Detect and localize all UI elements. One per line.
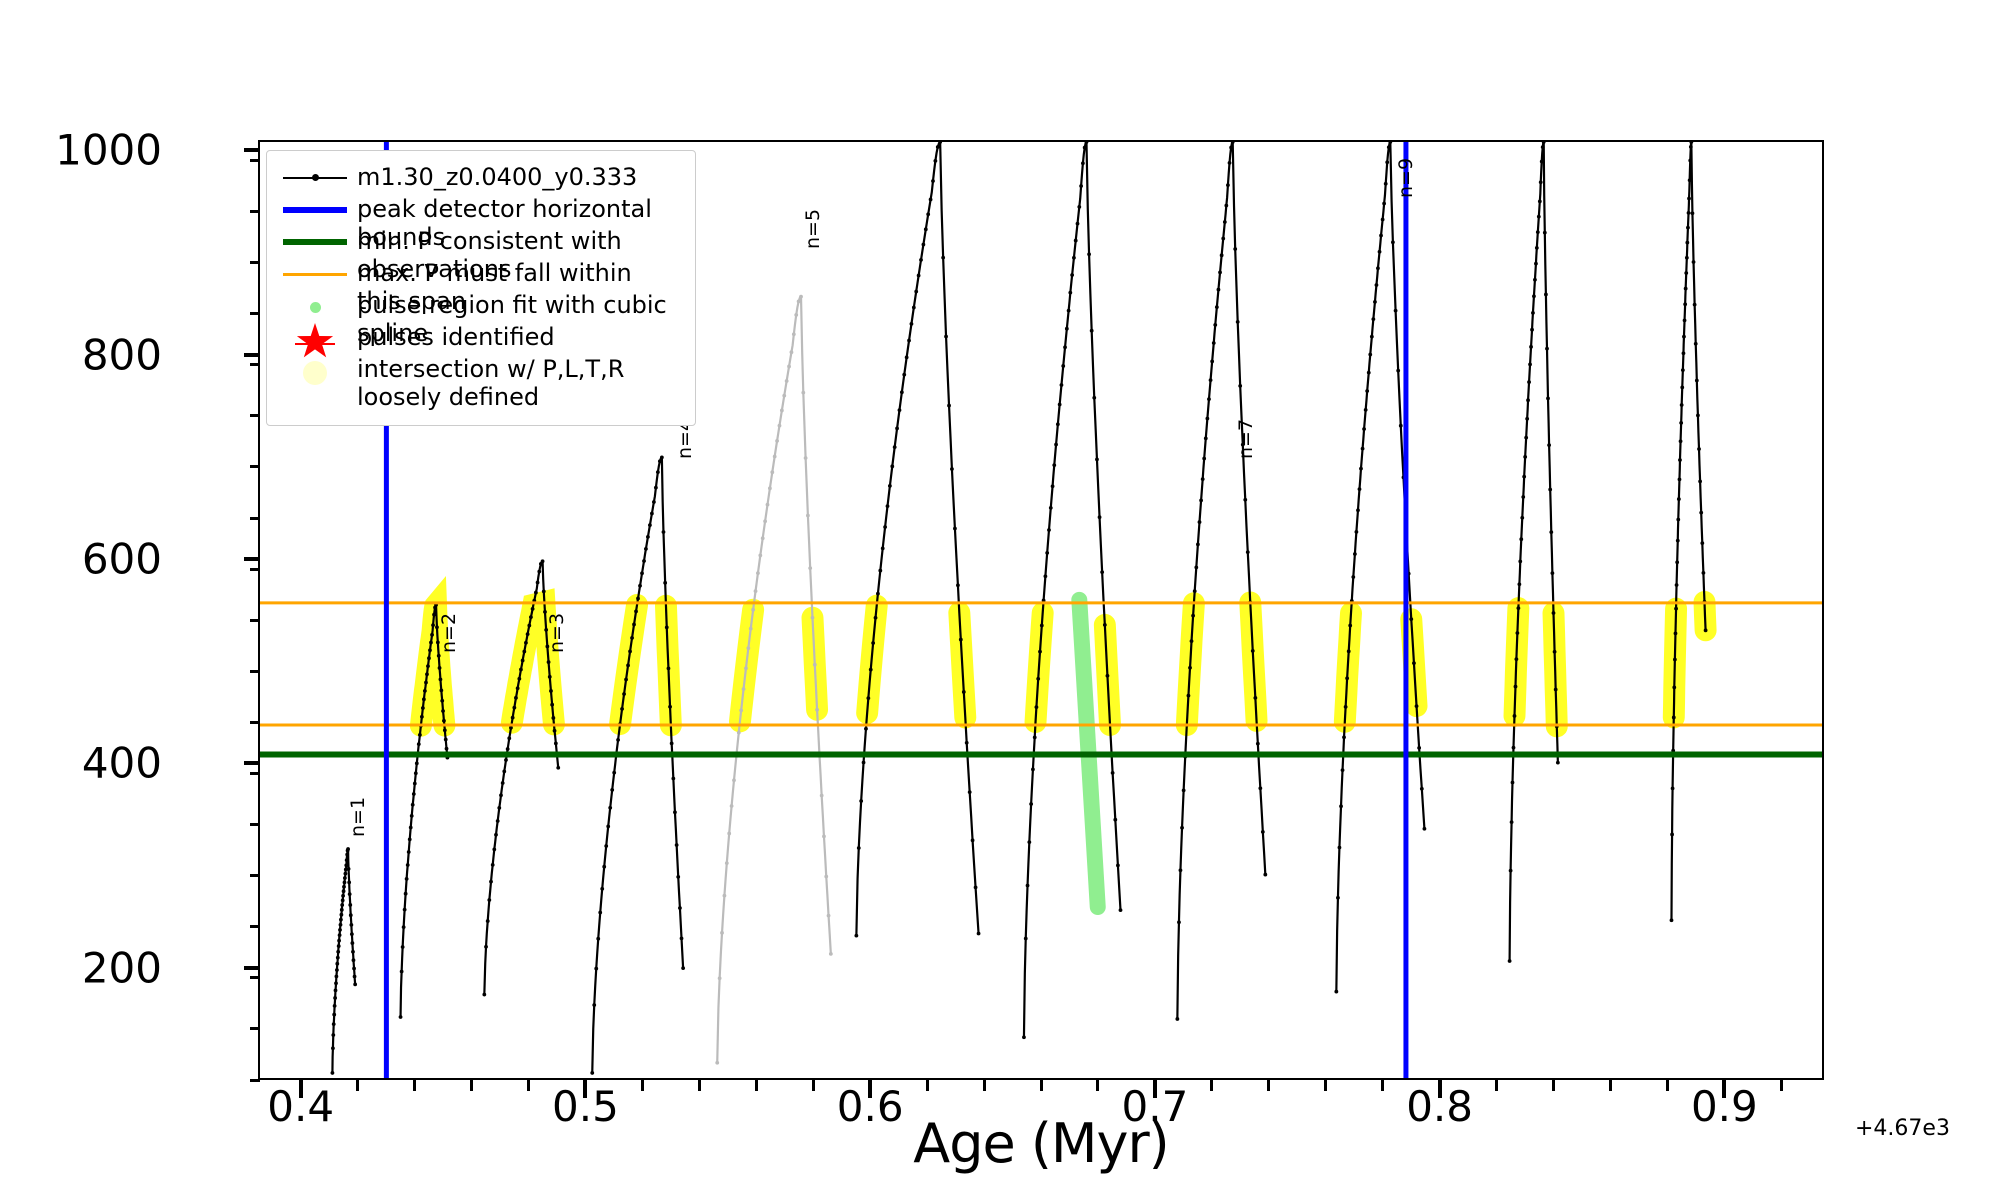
data-point [1523,455,1527,459]
data-point [1038,650,1042,654]
data-point [763,519,767,523]
data-point [1549,530,1553,534]
data-point [345,858,349,862]
data-point [730,804,734,808]
data-point [522,650,526,654]
data-point [1209,378,1213,382]
data-point [519,668,523,672]
data-point [1510,820,1514,824]
data-point [775,439,779,443]
data-point [1385,160,1389,164]
data-point [770,470,774,474]
data-point [1514,657,1518,661]
x-tick-label: 0.4 [267,1082,334,1131]
data-point [1552,611,1556,615]
data-point [1533,278,1537,282]
data-point [1068,291,1072,295]
data-point [1539,180,1543,184]
data-point [650,512,654,516]
data-point [422,697,426,701]
data-point [407,850,411,854]
data-point [1670,833,1674,837]
data-point [1190,639,1194,643]
data-point [1113,818,1117,822]
data-point [874,616,878,620]
data-point [898,408,902,412]
x-tick-minor [1381,1080,1384,1091]
data-point [1220,253,1224,257]
data-point [676,875,680,879]
data-point [624,678,628,682]
data-point [632,623,636,627]
x-tick-minor [1267,1080,1270,1091]
data-point [346,847,350,851]
data-point [968,790,972,794]
data-point [1198,520,1202,524]
data-point [1387,145,1391,149]
data-point [797,300,801,304]
data-point [336,956,340,960]
data-point [1694,342,1698,346]
data-point [1212,341,1216,345]
data-point [1554,688,1558,692]
data-point [663,581,667,585]
data-point [1683,318,1687,322]
data-point [1210,359,1214,363]
data-point [768,486,772,490]
data-point [1530,328,1534,332]
data-point [739,708,743,712]
data-point [780,409,784,413]
data-point [348,903,352,907]
data-point [883,525,887,529]
data-point [924,227,928,231]
data-point [756,571,760,575]
data-point [878,569,882,573]
data-point [1532,294,1536,298]
x-tick-label: 0.9 [1691,1082,1758,1131]
data-point [553,729,557,733]
data-point [340,903,344,907]
data-point [1538,199,1542,203]
data-point [592,1003,596,1007]
data-point [506,747,510,751]
data-point [761,536,765,540]
data-point [622,692,626,696]
data-point [340,908,344,912]
data-point [343,880,347,884]
data-point [349,923,353,927]
data-point [1026,884,1030,888]
data-point [827,914,831,918]
data-point [421,706,425,710]
data-point [829,952,833,956]
data-point [1687,197,1691,201]
legend-key-line-with-dots [279,163,353,193]
data-point [1072,256,1076,260]
data-point [723,894,727,898]
data-point [799,295,803,299]
data-point [550,703,554,707]
data-point [352,958,356,962]
data-point [1251,649,1255,653]
data-point [1067,309,1071,313]
data-point [596,937,600,941]
data-point [1695,379,1699,383]
data-point [1522,475,1526,479]
data-point [876,592,880,596]
cycle-label: n=3 [546,613,568,653]
data-point [612,771,616,775]
legend-key-small-dot [279,291,353,321]
data-point [1553,650,1557,654]
data-point [338,928,342,932]
data-point [634,610,638,614]
data-point [526,632,530,636]
data-point [439,678,443,682]
data-point [1036,677,1040,681]
data-point [893,445,897,449]
data-point [1223,220,1227,224]
data-point [333,996,337,1000]
data-point [1052,463,1056,467]
data-point [343,876,347,880]
data-point [1338,846,1342,850]
x-axis-offset-text: +4.67e3 [1855,1116,1950,1141]
data-point [439,688,443,692]
data-point [501,781,505,785]
data-point [494,833,498,837]
data-point [804,456,808,460]
data-point [1246,550,1250,554]
data-point [332,1013,336,1017]
data-point [438,666,442,670]
data-point [1194,565,1198,569]
data-point [429,641,433,645]
data-point [1356,508,1360,512]
data-point [406,863,410,867]
data-point [353,983,357,987]
data-point [1204,436,1208,440]
data-point [871,641,875,645]
data-point [1253,696,1257,700]
data-point [1187,694,1191,698]
data-point [933,159,937,163]
data-point [658,459,662,463]
data-point [338,933,342,937]
data-point [549,689,553,693]
data-point [424,681,428,685]
data-point [902,373,906,377]
x-tick-label: 0.8 [1406,1082,1473,1131]
data-point [1218,270,1222,274]
data-point [489,880,493,884]
data-point [1684,271,1688,275]
data-point [1525,417,1529,421]
data-point [1423,827,1427,831]
data-point [502,770,506,774]
data-point [1674,632,1678,636]
data-point [1676,518,1680,522]
data-point [1351,575,1355,579]
data-point [350,932,354,936]
data-point [1679,439,1683,443]
data-point [758,554,762,558]
data-point [662,530,666,534]
data-point [1191,614,1195,618]
data-point [801,391,805,395]
data-point [352,967,356,971]
legend-label: intersection w/ P,L,T,R loosely defined [353,355,624,412]
data-point [551,716,555,720]
data-point [665,626,669,630]
data-point [616,738,620,742]
data-point [1685,256,1689,260]
data-point [1236,320,1240,324]
data-point [1375,283,1379,287]
data-point [1060,383,1064,387]
data-point [815,708,819,712]
data-point [413,782,417,786]
data-point [336,950,340,954]
data-point [1541,145,1545,149]
data-point [782,394,786,398]
data-point [778,424,782,428]
data-point [1054,443,1058,447]
data-point [744,666,748,670]
data-point [400,970,404,974]
data-point [1202,457,1206,461]
data-line [856,142,978,936]
data-point [1070,273,1074,277]
x-axis-label: Age (Myr) [258,1112,1824,1175]
x-tick-minor [983,1080,986,1091]
data-point [341,898,345,902]
data-point [820,794,824,798]
data-point [512,706,516,710]
data-point [636,597,640,601]
data-point [339,913,343,917]
data-point [1675,583,1679,587]
data-point [1509,869,1513,873]
data-point [521,659,525,663]
data-point [1384,182,1388,186]
legend-key-thick-line [279,195,353,225]
data-point [1031,768,1035,772]
cycle-label: n=5 [802,209,824,249]
data-point [754,589,758,593]
data-point [514,696,518,700]
data-point [1670,918,1674,922]
data-point [441,709,445,713]
data-point [1049,506,1053,510]
data-point [524,641,528,645]
data-point [1373,300,1377,304]
legend-item: intersection w/ P,L,T,R loosely defined [279,355,683,411]
data-point [1348,624,1352,628]
data-point [418,733,422,737]
cycle-label: n=7 [1235,419,1257,459]
data-point [630,636,634,640]
data-point [785,379,789,383]
data-point [718,976,722,980]
data-point [1535,246,1539,250]
data-point [646,535,650,539]
data-point [1258,786,1262,790]
data-point [345,853,349,857]
data-point [1696,414,1700,418]
data-point [859,799,863,803]
data-point [1394,309,1398,313]
data-point [1540,160,1544,164]
data-point [977,932,981,936]
data-point [668,705,672,709]
data-point [1680,385,1684,389]
data-point [332,1022,336,1026]
data-point [1226,183,1230,187]
data-line [592,457,683,1073]
data-point [437,654,441,658]
data-point [749,627,753,631]
data-point [1065,327,1069,331]
x-tick-minor [1666,1080,1669,1091]
x-tick-minor [1096,1080,1099,1091]
data-point [412,792,416,796]
x-tick-minor [356,1080,359,1091]
data-point [715,1061,719,1065]
data-point [1344,705,1348,709]
cycle-label: n=2 [438,613,460,653]
data-point [1221,237,1225,241]
data-point [499,793,503,797]
data-point [1175,1017,1179,1021]
data-point [866,696,870,700]
x-tick-label: 0.7 [1121,1082,1188,1131]
x-tick-label: 0.5 [552,1082,619,1131]
data-point [671,777,675,781]
data-point [1051,484,1055,488]
data-point [1215,305,1219,309]
data-point [606,824,610,828]
data-point [1677,497,1681,501]
data-point [947,404,951,408]
data-point [678,906,682,910]
data-point [971,838,975,842]
legend-key-thick-line [279,227,353,257]
y-tick-label: 200 [82,943,162,992]
data-point [910,322,914,326]
data-point [660,455,664,459]
x-tick-minor [527,1080,530,1091]
data-point [1688,178,1692,182]
data-point [1177,920,1181,924]
data-point [1674,607,1678,611]
data-point [808,566,812,570]
data-point [1056,422,1060,426]
data-point [854,934,858,938]
x-tick-label: 0.6 [837,1082,904,1131]
data-point [822,835,826,839]
x-tick-minor [1324,1080,1327,1091]
data-point [1365,389,1369,393]
x-tick-minor [1495,1080,1498,1091]
data-point [403,908,407,912]
data-point [1103,623,1107,627]
data-point [1092,396,1096,400]
data-point [534,591,538,595]
data-point [1515,631,1519,635]
data-point [681,966,685,970]
legend-item: m1.30_z0.0400_y0.333 [279,163,683,193]
data-point [1358,487,1362,491]
data-point [1704,628,1708,632]
x-tick-minor [470,1080,473,1091]
data-point [644,547,648,551]
data-point [857,846,861,850]
data-point [1672,685,1676,689]
data-point [1100,570,1104,574]
data-point [331,1071,335,1075]
legend-item: pulse region fit with cubic spline [279,291,683,321]
data-point [1217,288,1221,292]
data-point [1261,830,1265,834]
data-point [1238,384,1242,388]
data-point [334,981,338,985]
data-point [1391,240,1395,244]
data-point [1079,184,1083,188]
data-point [339,918,343,922]
data-point [886,504,890,508]
data-point [1022,1035,1026,1039]
data-point [962,690,966,694]
data-point [941,256,945,260]
data-point [1688,159,1692,163]
data-point [1517,582,1521,586]
data-point [348,892,352,896]
data-point [732,778,736,782]
data-point [1678,477,1682,481]
data-point [1368,353,1372,357]
data-point [824,875,828,879]
data-point [431,623,435,627]
data-point [410,814,414,818]
data-point [944,335,948,339]
data-point [670,741,674,745]
data-point [529,615,533,619]
data-point [1420,787,1424,791]
data-point [517,677,521,681]
data-point [737,731,741,735]
data-point [343,872,347,876]
data-point [1514,685,1518,689]
data-point [1675,560,1679,564]
data-point [620,707,624,711]
data-point [351,950,355,954]
data-point [1224,204,1228,208]
data-point [1678,458,1682,462]
data-point [443,728,447,732]
data-point [922,243,926,247]
data-point [907,339,911,343]
data-point [491,863,495,867]
data-point [638,584,642,588]
data-point [929,198,933,202]
data-point [1693,303,1697,307]
data-point [445,747,449,751]
legend-key-big-dot [279,355,353,385]
data-point [1083,146,1087,150]
data-point [1077,205,1081,209]
